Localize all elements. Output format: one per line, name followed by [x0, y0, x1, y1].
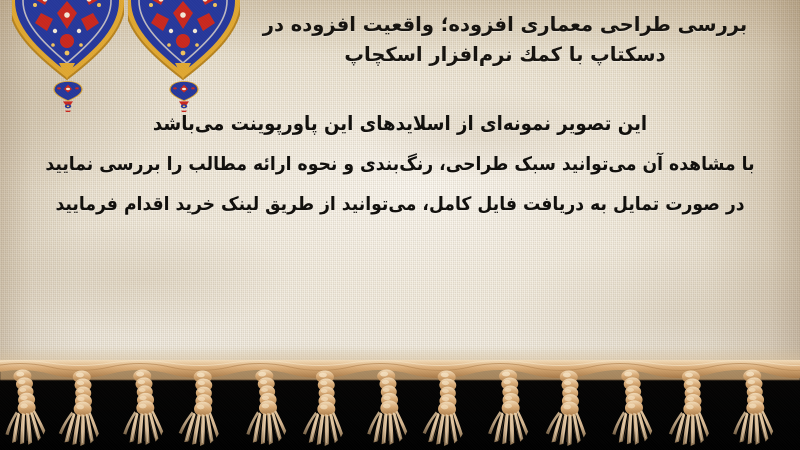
presentation-slide: بررسی طراحی معماری افزوده؛ واقعیت افزوده…: [0, 0, 800, 450]
slide-title-line-2: دسکتاپ با کمك نرم‌افزار اسکچاپ: [230, 40, 780, 70]
slide-body-line-2: با مشاهده آن می‌توانید سبک طراحی، رنگ‌بن…: [43, 152, 757, 179]
slide-body: این تصویر نمونه‌ای از اسلایدهای این پاور…: [16, 110, 784, 219]
slide-body-line-3: در صورت تمایل به دریافت فایل کامل، می‌تو…: [43, 192, 757, 219]
slide-title-line-1: بررسی طراحی معماری افزوده؛ واقعیت افزوده…: [230, 10, 780, 40]
slide-body-line-1: این تصویر نمونه‌ای از اسلایدهای این پاور…: [43, 110, 757, 138]
tassel-fringe: [0, 358, 800, 450]
slide-title: بررسی طراحی معماری افزوده؛ واقعیت افزوده…: [230, 10, 780, 69]
